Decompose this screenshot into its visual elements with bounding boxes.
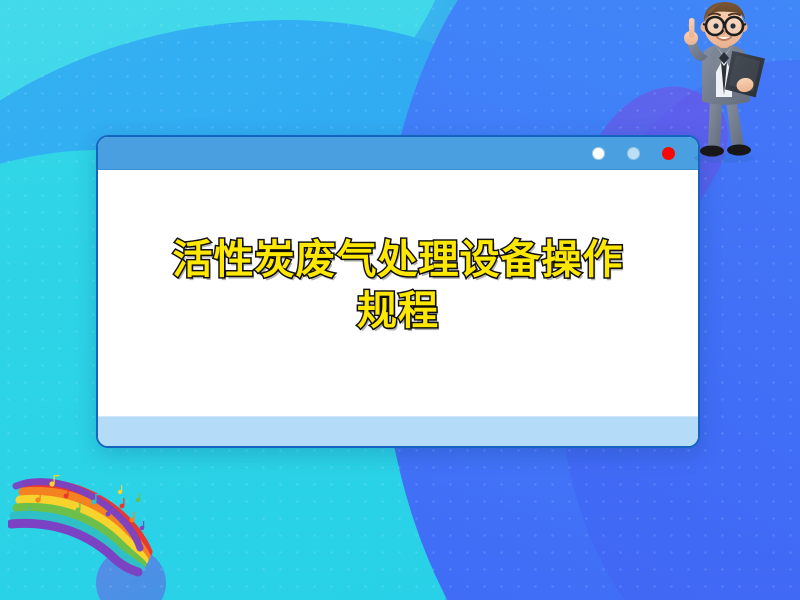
window-content-area: 活性炭废气处理设备操作规程 [98,170,698,416]
browser-window: 活性炭废气处理设备操作规程 [96,135,700,448]
rainbow-ribbon [8,470,188,580]
window-footer-bar [98,416,698,446]
close-button[interactable] [662,147,675,160]
glasses-icon [703,17,746,35]
music-notes [26,475,144,530]
page-title: 活性炭废气处理设备操作规程 [158,235,638,337]
slide-canvas: 活性炭废气处理设备操作规程 [0,0,800,600]
minimize-button[interactable] [592,147,605,160]
background-shape-purple-small [96,548,166,600]
window-titlebar [98,137,698,170]
maximize-button[interactable] [627,147,640,160]
